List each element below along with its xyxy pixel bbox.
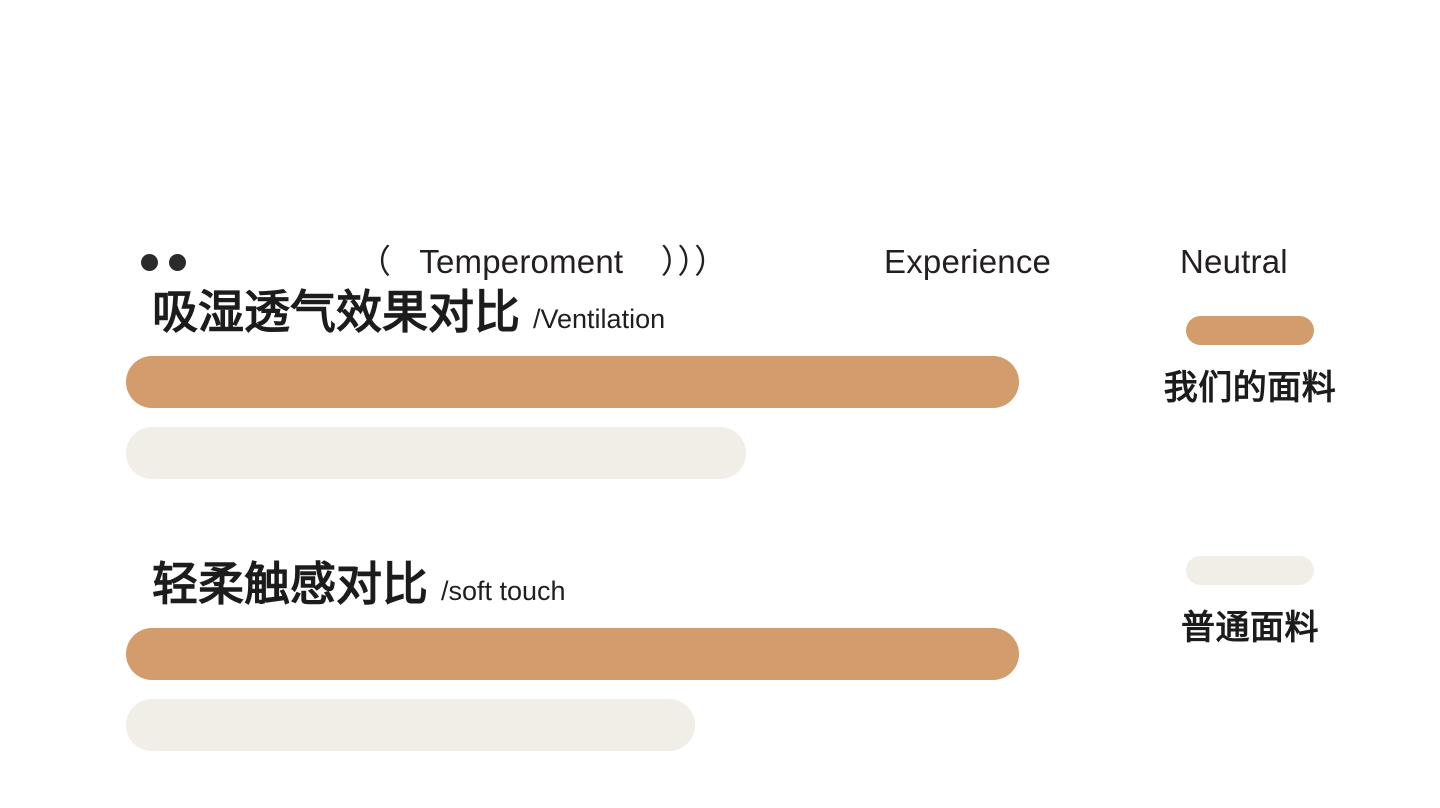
dot-icon: [169, 254, 186, 271]
legend-swatch-our-fabric: [1186, 316, 1314, 345]
header-dots: [141, 254, 186, 271]
bar-our-fabric: [126, 356, 1019, 408]
bar-normal-fabric: [126, 427, 746, 479]
section-title-cn: 轻柔触感对比: [152, 556, 428, 612]
dot-icon: [141, 254, 158, 271]
nav-item-neutral[interactable]: Neutral: [1180, 238, 1288, 286]
legend-item-our-fabric: 我们的面料: [1100, 316, 1400, 409]
legend-label-normal-fabric: 普通面料: [1100, 607, 1400, 649]
section-title-en: /Ventilation: [533, 291, 665, 347]
bar-normal-fabric: [126, 699, 695, 751]
nav-item-experience[interactable]: Experience: [884, 238, 1051, 286]
nav-item-temperoment[interactable]: （ Temperoment ）））: [358, 238, 727, 286]
legend-swatch-normal-fabric: [1186, 556, 1314, 585]
bar-our-fabric: [126, 628, 1019, 680]
bar-group: [126, 628, 1019, 751]
legend-label-our-fabric: 我们的面料: [1100, 367, 1400, 409]
section-heading: 轻柔触感对比 /soft touch: [152, 556, 566, 619]
section-heading: 吸湿透气效果对比 /Ventilation: [152, 284, 665, 347]
section-title-en: /soft touch: [441, 563, 566, 619]
section-title-cn: 吸湿透气效果对比: [152, 284, 520, 340]
top-header: （ Temperoment ））） Experience Neutral: [0, 116, 1440, 178]
bar-group: [126, 356, 1019, 479]
legend-item-normal-fabric: 普通面料: [1100, 556, 1400, 649]
